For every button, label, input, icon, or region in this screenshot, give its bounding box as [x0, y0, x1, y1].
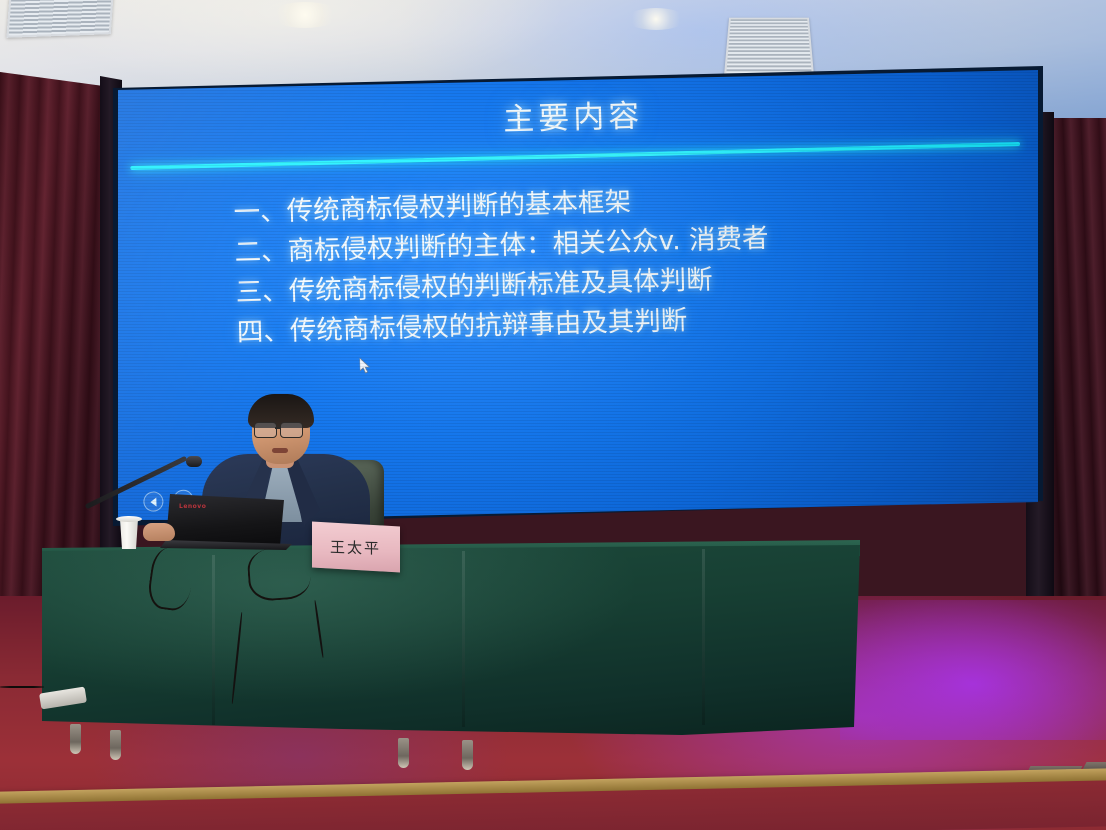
slide-prev-button[interactable] [143, 491, 164, 512]
air-vent-left-icon [6, 0, 113, 38]
cable [0, 686, 44, 688]
laptop [166, 494, 284, 546]
glasses-lens-left-icon [254, 422, 277, 438]
name-card: 王太平 [312, 522, 400, 573]
skirt-fold [462, 551, 465, 727]
glasses-bridge-icon [275, 427, 281, 429]
downlight-b-icon [626, 8, 686, 30]
mouth [272, 448, 288, 453]
stage-floor-purple-light [840, 600, 1106, 740]
hand-on-mouse [143, 523, 175, 541]
downlight-a-icon [270, 2, 340, 28]
skirt-fold [702, 549, 705, 725]
table-leg [398, 738, 409, 768]
lecture-hall-photo: 主要内容 一、传统商标侵权判断的基本框架 二、商标侵权判断的主体：相关公众v. … [0, 0, 1106, 830]
triangle-left-icon [150, 497, 157, 506]
slide-title-divider [130, 142, 1020, 170]
curtain-right [1046, 118, 1106, 678]
slide-bullet-list: 一、传统商标侵权判断的基本框架 二、商标侵权判断的主体：相关公众v. 消费者 三… [233, 174, 1027, 355]
laptop-brand-label: Lenovo [179, 503, 206, 510]
table-leg [110, 730, 121, 760]
cable [246, 546, 311, 602]
paper-cup-rim [116, 516, 142, 522]
slide-title: 主要内容 [118, 80, 1034, 150]
microphone-head-icon [186, 456, 202, 467]
table-leg [462, 740, 473, 770]
skirt-fold [212, 555, 215, 725]
name-card-text: 王太平 [330, 536, 381, 559]
glasses-lens-right-icon [280, 422, 303, 438]
table-leg [70, 724, 81, 754]
mouse-pointer-icon [360, 358, 371, 374]
